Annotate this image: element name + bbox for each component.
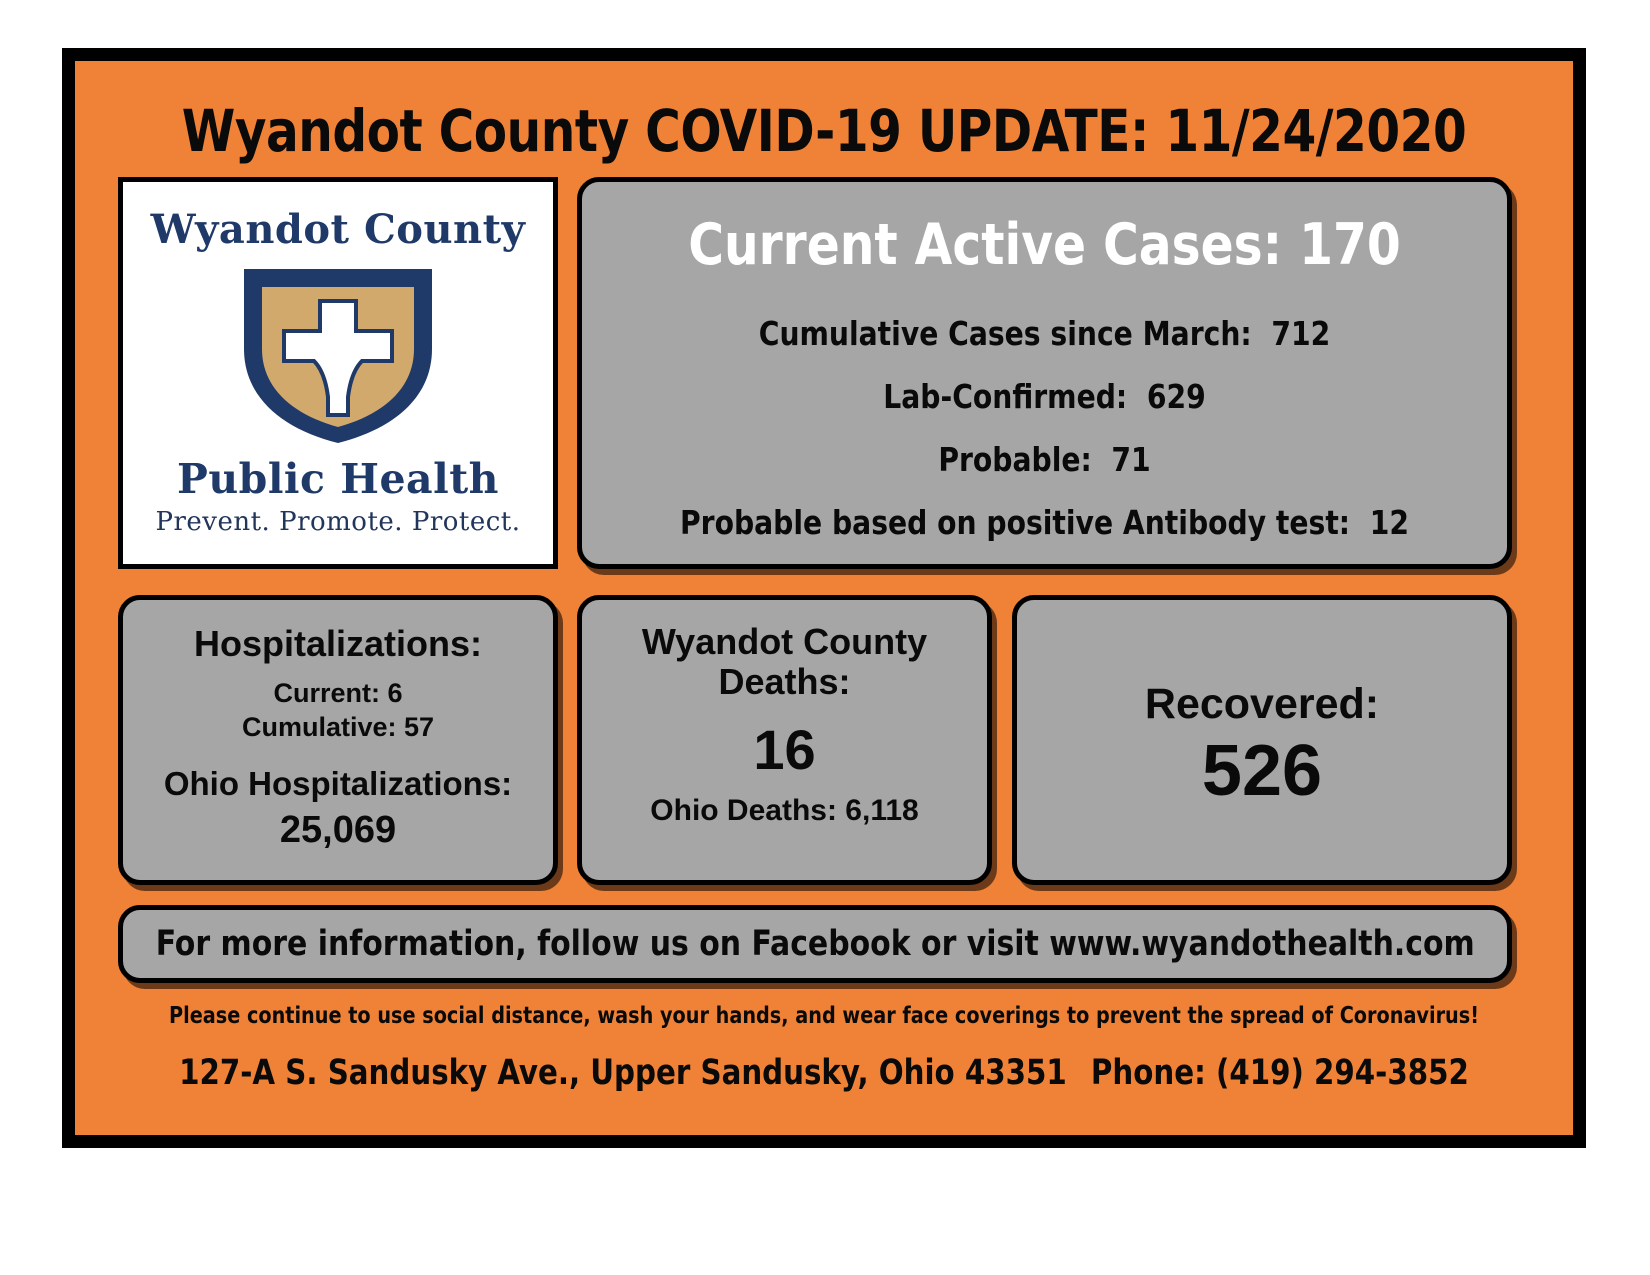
shield-icon — [123, 257, 553, 449]
logo-tagline: Prevent. Promote. Protect. — [123, 507, 553, 537]
recovered-card: Recovered: 526 — [1012, 595, 1512, 885]
agency-logo: Wyandot County Public Health Prevent. Pr… — [118, 177, 558, 569]
probable-row: Probable: 71 — [605, 440, 1484, 479]
prevention-note: Please continue to use social distance, … — [127, 1003, 1520, 1029]
deaths-value: 16 — [582, 721, 987, 780]
cumulative-cases-label: Cumulative Cases since March: — [759, 314, 1252, 353]
ohio-deaths: Ohio Deaths: 6,118 — [582, 793, 987, 828]
poster-canvas: Wyandot County COVID-19 UPDATE: 11/24/20… — [62, 48, 1586, 1148]
address-street: 127-A S. Sandusky Ave., Upper Sandusky, … — [179, 1053, 965, 1093]
logo-line-top: Wyandot County — [123, 206, 553, 253]
active-cases-value: 170 — [1299, 212, 1401, 278]
probable-value: 71 — [1111, 440, 1150, 479]
antibody-row: Probable based on positive Antibody test… — [605, 503, 1484, 542]
address-zip: 43351 — [965, 1053, 1067, 1093]
phone-number: Phone: (419) 294-3852 — [1091, 1053, 1469, 1093]
recovered-value: 526 — [1017, 734, 1507, 810]
deaths-card: Wyandot County Deaths: 16 Ohio Deaths: 6… — [577, 595, 992, 885]
ohio-hospitalizations-value: 25,069 — [123, 811, 553, 851]
logo-line-bottom: Public Health — [123, 455, 553, 503]
more-information-text: For more information, follow us on Faceb… — [155, 924, 1474, 964]
cumulative-cases-value: 712 — [1271, 314, 1330, 353]
address-line: 127-A S. Sandusky Ave., Upper Sandusky, … — [127, 1053, 1520, 1093]
lab-confirmed-label: Lab-Confirmed: — [883, 377, 1127, 416]
hospitalizations-heading: Hospitalizations: — [123, 624, 553, 664]
hospitalizations-current: Current: 6 — [123, 678, 553, 710]
hospitalizations-cumulative: Cumulative: 57 — [123, 712, 553, 744]
lab-confirmed-row: Lab-Confirmed: 629 — [605, 377, 1484, 416]
cumulative-cases-row: Cumulative Cases since March: 712 — [605, 314, 1484, 353]
hospitalizations-card: Hospitalizations: Current: 6 Cumulative:… — [118, 595, 558, 885]
antibody-label: Probable based on positive Antibody test… — [680, 503, 1350, 542]
page-title: Wyandot County COVID-19 UPDATE: 11/24/20… — [127, 97, 1520, 165]
active-cases-headline: Current Active Cases: 170 — [605, 212, 1484, 278]
ohio-hospitalizations-label: Ohio Hospitalizations: — [123, 766, 553, 803]
lab-confirmed-value: 629 — [1147, 377, 1206, 416]
more-information-bar: For more information, follow us on Faceb… — [118, 905, 1512, 983]
deaths-heading: Wyandot County Deaths: — [582, 622, 987, 703]
probable-label: Probable: — [938, 440, 1091, 479]
active-cases-label: Current Active Cases: — [688, 212, 1282, 278]
antibody-value: 12 — [1370, 503, 1409, 542]
recovered-heading: Recovered: — [1017, 680, 1507, 728]
active-cases-card: Current Active Cases: 170 Cumulative Cas… — [577, 177, 1512, 569]
